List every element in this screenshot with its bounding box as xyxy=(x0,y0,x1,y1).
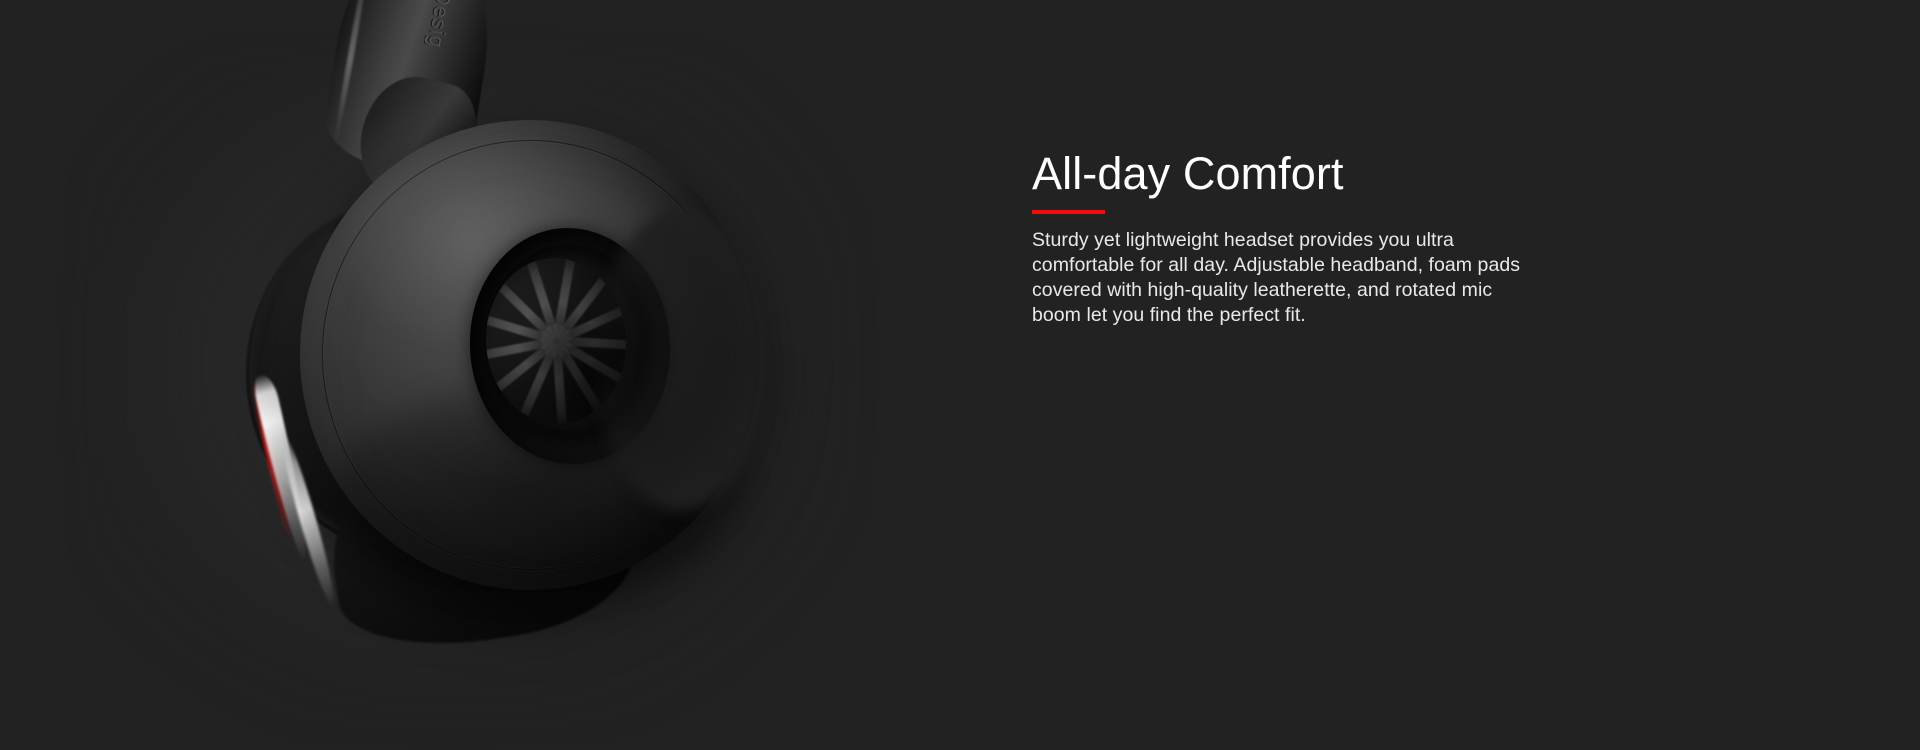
feature-heading: All-day Comfort xyxy=(1032,148,1672,200)
heading-underline-rule xyxy=(1032,210,1105,214)
headset-product-image: Desig xyxy=(0,0,900,750)
feature-copy-block: All-day Comfort Sturdy yet lightweight h… xyxy=(1032,148,1672,328)
product-feature-banner: Desig All-day Comfort Sturdy yet lightwe… xyxy=(0,0,1920,750)
feature-description: Sturdy yet lightweight headset provides … xyxy=(1032,228,1542,328)
